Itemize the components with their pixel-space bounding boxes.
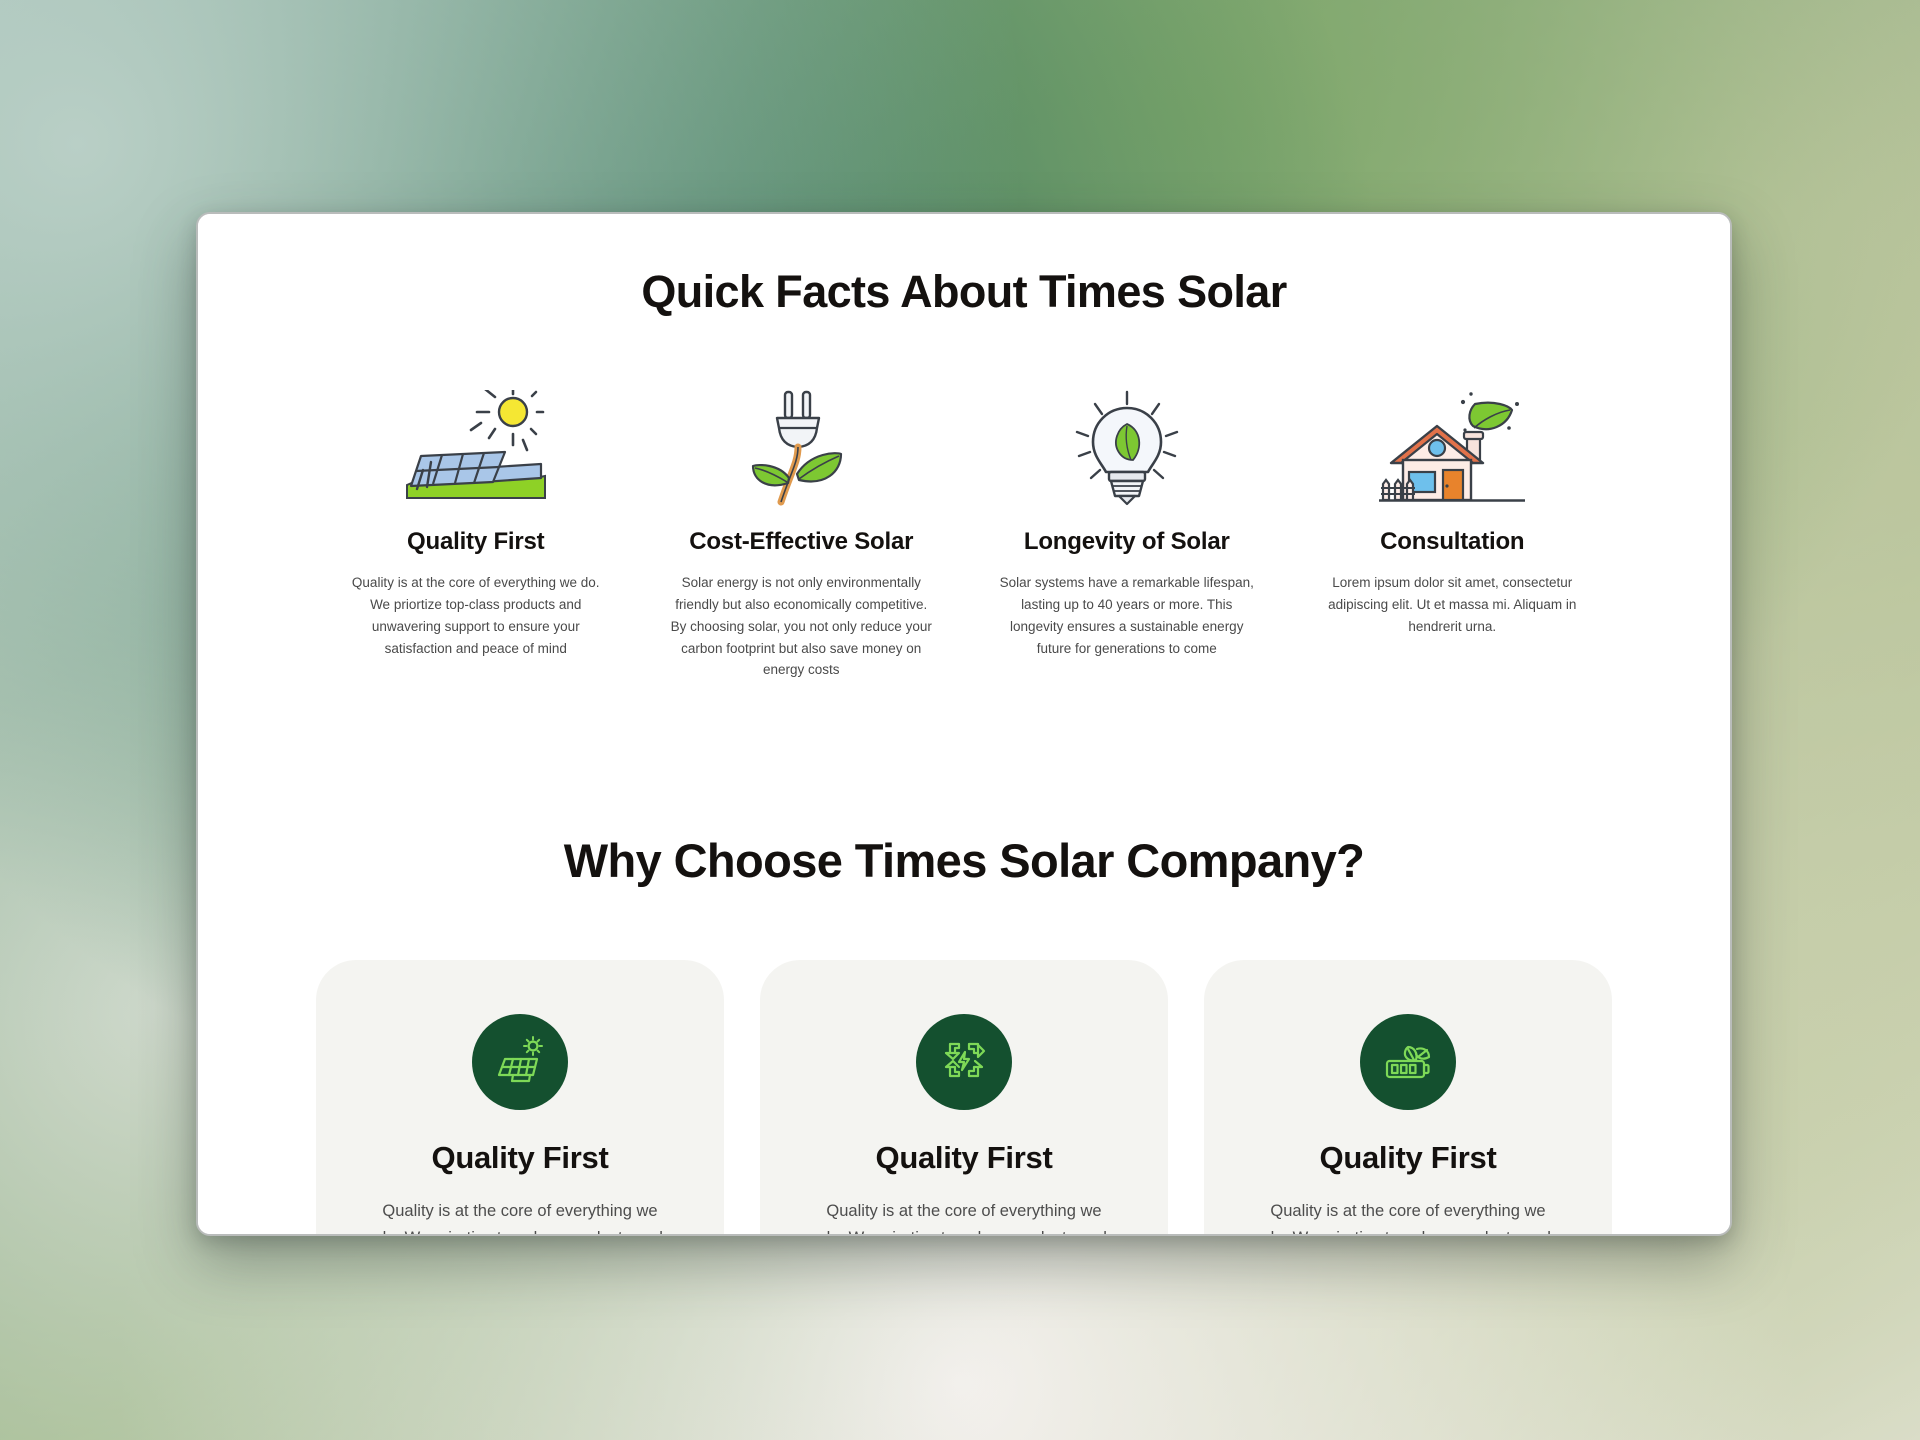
quick-facts-grid: Quality First Quality is at the core of … [198, 388, 1730, 681]
fact-item-quality-first: Quality First Quality is at the core of … [318, 388, 634, 681]
card-title: Quality First [1320, 1140, 1497, 1176]
quick-facts-heading: Quick Facts About Times Solar [198, 266, 1730, 318]
page-viewport: Quick Facts About Times Solar [198, 214, 1730, 1234]
card-body: Quality is at the core of everything we … [814, 1198, 1114, 1234]
recycle-energy-icon [937, 1033, 991, 1092]
why-choose-section: Why Choose Times Solar Company? [198, 833, 1730, 1234]
fact-body: Solar energy is not only environmentally… [667, 572, 935, 681]
eco-battery-leaf-icon [1381, 1033, 1435, 1092]
badge-circle [916, 1014, 1012, 1110]
fact-title: Longevity of Solar [1024, 528, 1230, 556]
solar-panel-sun-illustration [401, 388, 551, 506]
solar-panel-icon [493, 1033, 547, 1092]
why-choose-heading: Why Choose Times Solar Company? [198, 833, 1730, 888]
fact-title: Consultation [1380, 528, 1524, 556]
badge-circle [1360, 1014, 1456, 1110]
card-body: Quality is at the core of everything we … [370, 1198, 670, 1234]
fact-title: Quality First [407, 528, 544, 556]
why-choose-cards-grid: Quality First Quality is at the core of … [198, 960, 1730, 1234]
plug-plant-illustration [726, 388, 876, 506]
fact-item-cost-effective-solar: Cost-Effective Solar Solar energy is not… [644, 388, 960, 681]
desktop-wallpaper: Quick Facts About Times Solar [0, 0, 1920, 1440]
fact-body: Lorem ipsum dolor sit amet, consectetur … [1318, 572, 1586, 638]
fact-item-longevity-of-solar: Longevity of Solar Solar systems have a … [969, 388, 1285, 681]
fact-body: Solar systems have a remarkable lifespan… [993, 572, 1261, 659]
badge-circle [472, 1014, 568, 1110]
card-title: Quality First [432, 1140, 609, 1176]
feature-card[interactable]: Quality First Quality is at the core of … [1204, 960, 1612, 1234]
card-body: Quality is at the core of everything we … [1258, 1198, 1558, 1234]
eco-house-leaf-illustration [1377, 388, 1527, 506]
fact-item-consultation: Consultation Lorem ipsum dolor sit amet,… [1295, 388, 1611, 681]
app-window: Quick Facts About Times Solar [196, 212, 1732, 1236]
feature-card[interactable]: Quality First Quality is at the core of … [760, 960, 1168, 1234]
lightbulb-leaf-illustration [1052, 388, 1202, 506]
fact-body: Quality is at the core of everything we … [342, 572, 610, 659]
card-title: Quality First [876, 1140, 1053, 1176]
feature-card[interactable]: Quality First Quality is at the core of … [316, 960, 724, 1234]
fact-title: Cost-Effective Solar [689, 528, 913, 556]
